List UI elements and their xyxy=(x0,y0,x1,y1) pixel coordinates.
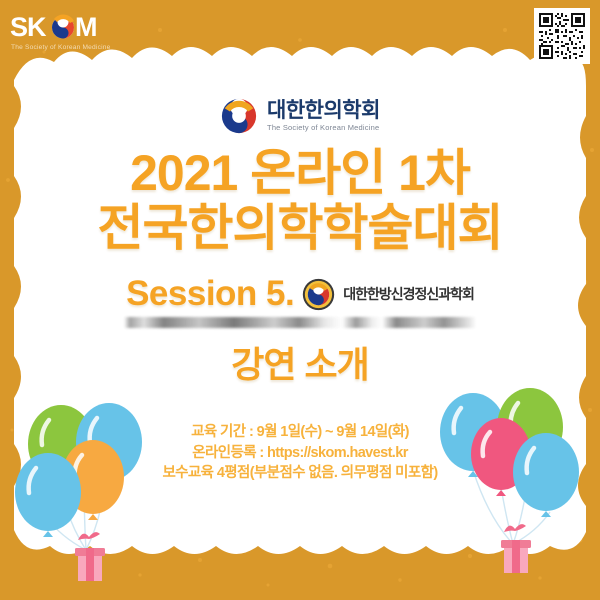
society-logo: 대한한의학회 The Society of Korean Medicine xyxy=(220,97,380,135)
svg-text:M: M xyxy=(75,12,97,42)
qr-code[interactable] xyxy=(534,8,590,64)
session-row: Session 5. 대한한방신경정신과학회 xyxy=(126,274,474,314)
society-subtitle: The Society of Korean Medicine xyxy=(267,124,380,132)
session-org-seal-icon xyxy=(302,278,335,311)
poster-title-line2: 전국한의학학술대회 xyxy=(98,203,503,254)
poster-title-line1: 2021 온라인 1차 xyxy=(130,148,470,199)
redacted-presenter-strip xyxy=(124,317,476,328)
info-line-register[interactable]: 온라인등록 : https://skom.havest.kr xyxy=(162,443,437,464)
event-poster: SK M The Society of Korean Medicine xyxy=(0,0,600,600)
poster-subtitle: 강연 소개 xyxy=(231,336,368,388)
info-line-credits: 보수교육 4평점(부분점수 없음. 의무평점 미포함) xyxy=(162,463,437,484)
society-taegeuk-icon xyxy=(220,97,258,135)
society-name: 대한한의학회 xyxy=(267,100,380,121)
skom-wordmark: SK xyxy=(10,12,47,42)
skom-tagline: The Society of Korean Medicine xyxy=(11,44,111,51)
info-block: 교육 기간 : 9월 1일(수) ~ 9월 14일(화) 온라인등록 : htt… xyxy=(162,422,437,484)
session-label: Session 5. xyxy=(126,274,294,314)
session-organization: 대한한방신경정신과학회 xyxy=(343,284,474,304)
poster-content: 대한한의학회 The Society of Korean Medicine 20… xyxy=(0,0,600,600)
skom-taegeuk-icon xyxy=(52,15,74,39)
info-line-period: 교육 기간 : 9월 1일(수) ~ 9월 14일(화) xyxy=(162,422,437,443)
skom-logo: SK M The Society of Korean Medicine xyxy=(10,10,130,56)
